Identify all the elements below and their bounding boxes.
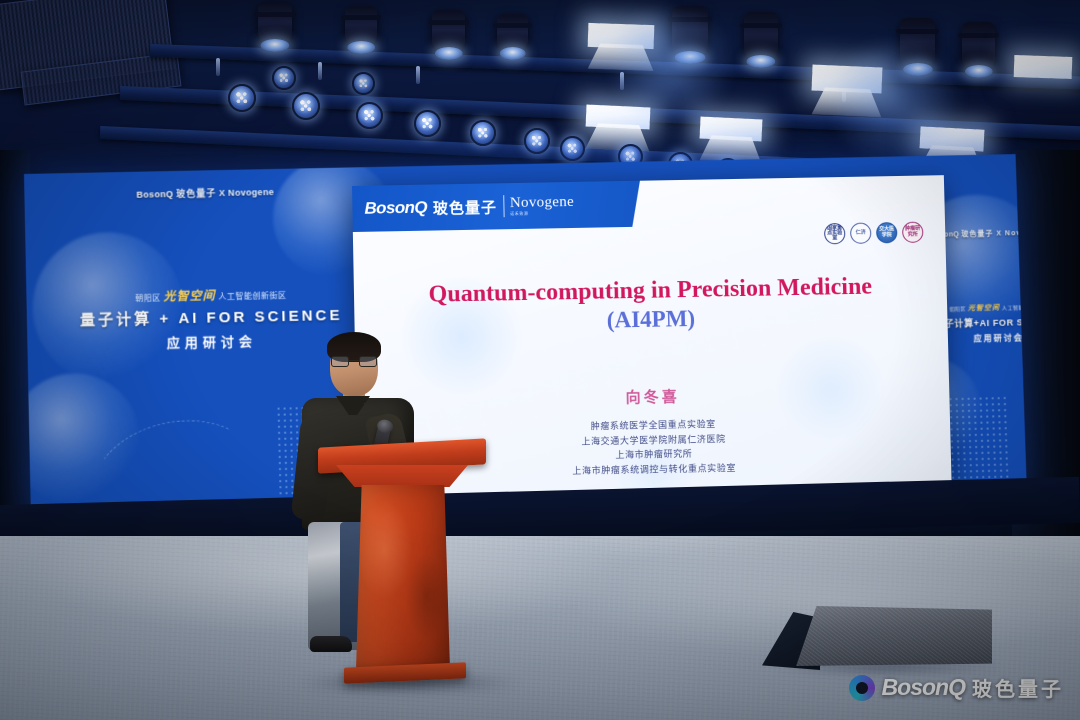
wall-logo-left-joiner: X (219, 188, 226, 198)
photo-watermark: BosonQ 玻色量子 (849, 673, 1064, 702)
wall-logo-left-cn: 玻色量子 (176, 188, 216, 199)
bosonq-logo-icon (849, 675, 875, 701)
floor-monitor-speaker (788, 598, 992, 672)
seal-ruijin-hospital-icon: 仁济 (850, 223, 872, 244)
par-can-light (524, 128, 550, 154)
rigging-hook (216, 58, 220, 76)
wall-banner-left-title: 量子计算 + AI FOR SCIENCE (51, 303, 372, 331)
eyebrow-highlight: 光智空间 (968, 305, 1000, 313)
monitor-grille (788, 606, 992, 666)
slide-brand-cn: 玻色量子 (433, 196, 497, 218)
slide-partner-cn: 诺禾致源 (510, 211, 574, 216)
moving-head-light (744, 12, 778, 62)
lighting-glow (600, 10, 740, 120)
par-can-light (470, 120, 496, 146)
eyebrow-prefix: 朝阳区 (135, 293, 161, 303)
led-panel-light (1014, 55, 1073, 79)
par-can-light (352, 72, 375, 95)
moving-head-light (345, 6, 377, 48)
seal-state-key-lab-icon: 国家重点实验室 (824, 223, 846, 244)
slide-title-block: Quantum-computing in Precision Medicine … (354, 271, 948, 338)
rigging-hook (318, 62, 322, 80)
slide-partner-logo: Novogene 诺禾致源 (510, 195, 574, 216)
par-can-light (414, 110, 441, 137)
slide-header-band: BosonQ 玻色量子 Novogene 诺禾致源 (352, 181, 641, 232)
dot-matrix-graphic (947, 395, 1010, 489)
par-can-light (272, 66, 296, 90)
seal-shanghai-cancer-institute-icon: 肿瘤研究所 (902, 222, 924, 243)
eyebrow-prefix: 朝阳区 (949, 306, 966, 312)
slide-brand-mark: BosonQ (364, 198, 427, 219)
watermark-mark: BosonQ (882, 674, 965, 701)
stage-ceiling-truss (0, 0, 1080, 182)
lectern-neck (336, 465, 468, 487)
par-can-light (292, 92, 320, 120)
watermark-cn: 玻色量子 (972, 673, 1064, 702)
eyebrow-highlight: 光智空间 (163, 288, 215, 303)
lectern (318, 443, 486, 695)
slide-brand-divider (503, 195, 504, 217)
lighting-glow (820, 40, 970, 160)
par-can-light (228, 84, 256, 112)
rigging-hook (416, 66, 420, 84)
wall-logo-left-partner: Novogene (228, 187, 274, 198)
moving-head-light (432, 10, 465, 54)
institution-seals: 国家重点实验室 仁济 交大医学院 肿瘤研究所 (824, 222, 924, 245)
par-can-light (560, 136, 585, 161)
eyebrow-suffix: 人工智能创新街区 (218, 291, 286, 301)
par-can-light (356, 102, 383, 129)
moving-head-light (497, 14, 528, 54)
seal-sjtu-medicine-icon: 交大医学院 (876, 222, 898, 243)
wall-logo-left-mark: BosonQ (136, 189, 173, 200)
wall-logo-right-cn: 玻色量子 X Novogene (961, 230, 1027, 239)
moving-head-light (962, 22, 995, 72)
wall-logo-left: BosonQ 玻色量子 X Novogene (136, 185, 274, 201)
glasses-icon (331, 356, 377, 367)
lectern-column (356, 485, 450, 670)
moving-head-light (258, 2, 292, 46)
slide-partner-name: Novogene (510, 195, 574, 211)
conference-stage-photo: BosonQ 玻色量子 X Novogene 朝阳区 光智空间 人工智能创新街区… (0, 0, 1080, 720)
